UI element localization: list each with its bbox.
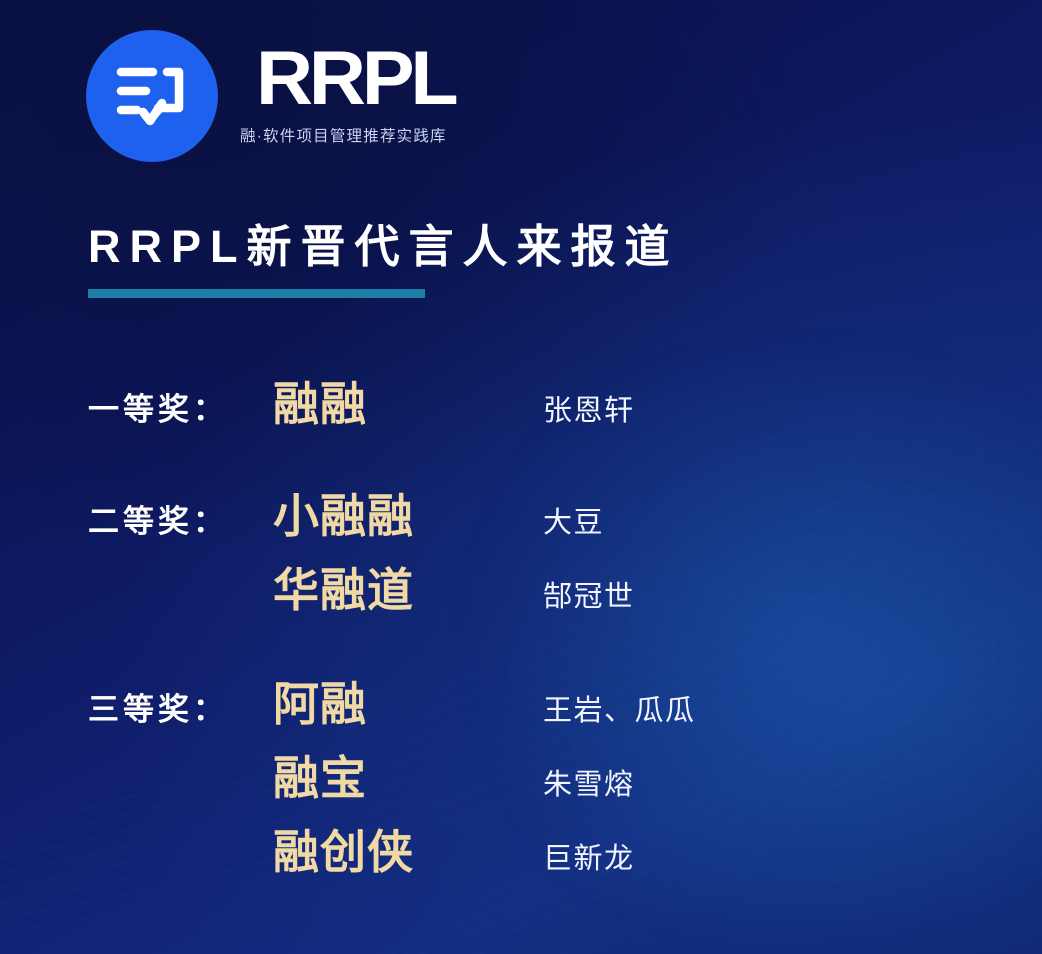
award-person: 王岩、瓜瓜 — [543, 687, 788, 729]
award-nickname: 小融融 — [273, 480, 543, 546]
award-nickname: 融融 — [273, 368, 543, 434]
award-row: 融宝 朱雪熔 — [88, 742, 788, 816]
award-nickname: 华融道 — [273, 554, 543, 620]
award-nickname: 融宝 — [273, 742, 543, 808]
award-list: 一等奖： 融融 张恩轩 二等奖： 小融融 大豆 华融道 郜冠世 三等奖： 阿融 … — [88, 368, 788, 890]
award-person: 张恩轩 — [543, 387, 788, 429]
award-tier-label: 一等奖： — [88, 384, 273, 429]
award-row: 二等奖： 小融融 大豆 — [88, 480, 788, 554]
award-nickname: 阿融 — [273, 668, 543, 734]
award-tier-label: 二等奖： — [88, 496, 273, 541]
title-underline — [88, 289, 425, 298]
award-row: 三等奖： 阿融 王岩、瓜瓜 — [88, 668, 788, 742]
chat-check-icon — [86, 30, 218, 162]
page-title: RRPL新晋代言人来报道 — [88, 222, 679, 272]
award-nickname: 融创侠 — [273, 816, 543, 882]
award-row: 华融道 郜冠世 — [88, 554, 788, 628]
award-person: 大豆 — [543, 499, 788, 541]
brand-tagline: 融·软件项目管理推荐实践库 — [240, 124, 447, 146]
award-group-third: 三等奖： 阿融 王岩、瓜瓜 融宝 朱雪熔 融创侠 巨新龙 — [88, 668, 788, 890]
award-person: 巨新龙 — [543, 835, 788, 877]
award-group-first: 一等奖： 融融 张恩轩 — [88, 368, 788, 442]
brand-wordmark: RRPL — [256, 42, 455, 116]
award-person: 郜冠世 — [543, 573, 788, 615]
award-person: 朱雪熔 — [543, 761, 788, 803]
brand-text: RRPL 融·软件项目管理推荐实践库 — [240, 42, 447, 149]
award-row: 一等奖： 融融 张恩轩 — [88, 368, 788, 442]
page-title-block: RRPL新晋代言人来报道 — [88, 222, 679, 298]
brand-header: RRPL 融·软件项目管理推荐实践库 — [86, 30, 447, 162]
award-row: 融创侠 巨新龙 — [88, 816, 788, 890]
award-tier-label: 三等奖： — [88, 684, 273, 729]
award-group-second: 二等奖： 小融融 大豆 华融道 郜冠世 — [88, 480, 788, 628]
poster-canvas: RRPL 融·软件项目管理推荐实践库 RRPL新晋代言人来报道 一等奖： 融融 … — [0, 0, 1042, 954]
